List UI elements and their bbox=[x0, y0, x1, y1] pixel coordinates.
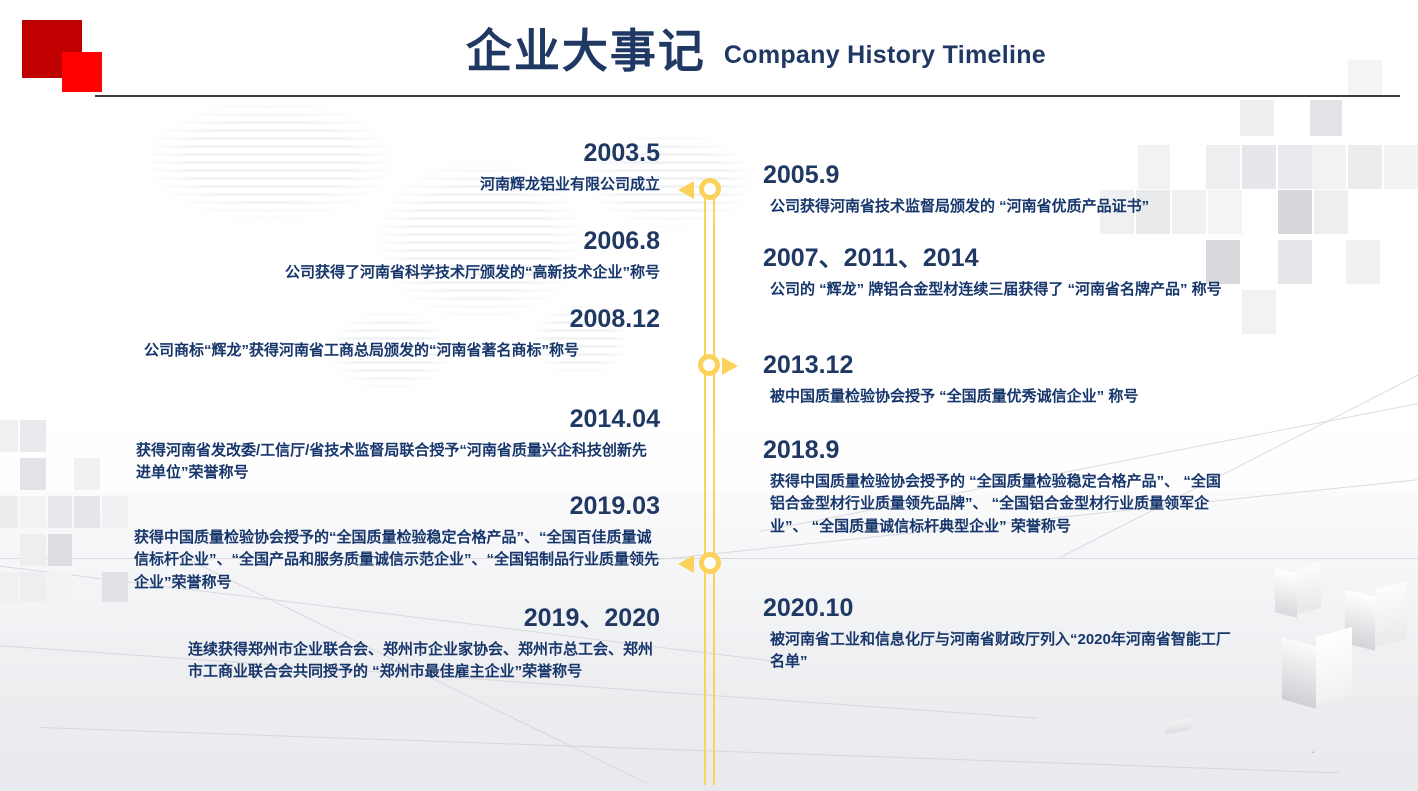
mosaic-square bbox=[0, 420, 18, 452]
entry-text: 获得河南省发改委/工信厅/省技术监督局联合授予“河南省质量兴企科技创新先进单位”… bbox=[130, 440, 660, 485]
footer-mark: · bbox=[1311, 744, 1315, 759]
arrow-left-icon bbox=[678, 555, 694, 573]
mosaic-square bbox=[102, 496, 128, 528]
mosaic-square bbox=[20, 496, 46, 528]
mosaic-square bbox=[1240, 100, 1274, 136]
entry-text: 公司的 “辉龙” 牌铝合金型材连续三届获得了 “河南省名牌产品” 称号 bbox=[763, 279, 1233, 302]
mosaic-square bbox=[1278, 190, 1312, 234]
ring-marker-icon bbox=[699, 552, 721, 574]
timeline-marker[interactable] bbox=[698, 353, 758, 379]
mosaic-square bbox=[20, 572, 46, 602]
timeline-entry-right: 2018.9 获得中国质量检验协会授予的 “全国质量检验稳定合格产品”、 “全国… bbox=[763, 437, 1233, 538]
entry-date: 2005.9 bbox=[763, 162, 1263, 190]
mosaic-square bbox=[74, 458, 100, 490]
mosaic-square bbox=[20, 458, 46, 490]
entry-text: 被河南省工业和信息化厅与河南省财政厅列入“2020年河南省智能工厂 名单” bbox=[763, 629, 1243, 674]
mosaic-square bbox=[48, 572, 72, 602]
floating-cube bbox=[1165, 720, 1191, 734]
title-block: 企业大事记 Company History Timeline bbox=[0, 28, 1400, 74]
floating-cube bbox=[1282, 632, 1352, 712]
timeline-entry-right: 2013.12 被中国质量检验协会授予 “全国质量优秀诚信企业” 称号 bbox=[763, 352, 1263, 408]
timeline-line-left bbox=[704, 190, 706, 785]
arrow-left-icon bbox=[678, 181, 694, 199]
entry-date: 2003.5 bbox=[130, 140, 660, 168]
timeline-marker[interactable] bbox=[676, 177, 736, 203]
mosaic-square bbox=[1314, 190, 1348, 234]
mosaic-square bbox=[1346, 240, 1380, 284]
entry-text: 河南辉龙铝业有限公司成立 bbox=[130, 174, 660, 197]
mosaic-square bbox=[1278, 240, 1312, 284]
entry-date: 2018.9 bbox=[763, 437, 1233, 465]
entry-date: 2013.12 bbox=[763, 352, 1263, 380]
page-subtitle: Company History Timeline bbox=[724, 41, 1046, 70]
timeline-entry-right: 2005.9 公司获得河南省技术监督局颁发的 “河南省优质产品证书” bbox=[763, 162, 1263, 218]
mosaic-square bbox=[74, 496, 100, 528]
timeline-entry-left: 2003.5 河南辉龙铝业有限公司成立 bbox=[130, 140, 660, 196]
arrow-right-icon bbox=[722, 357, 738, 375]
mosaic-square bbox=[1242, 290, 1276, 334]
header-divider bbox=[95, 95, 1400, 97]
entry-date: 2019、2020 bbox=[130, 605, 660, 633]
mosaic-square bbox=[1278, 145, 1312, 189]
entry-date: 2008.12 bbox=[130, 306, 660, 334]
floating-cube bbox=[1345, 585, 1407, 649]
mosaic-square bbox=[102, 572, 128, 602]
ring-marker-icon bbox=[699, 178, 721, 200]
entry-text: 连续获得郑州市企业联合会、郑州市企业家协会、郑州市总工会、郑州市工商业联合会共同… bbox=[130, 639, 660, 684]
mosaic-square bbox=[0, 496, 18, 528]
entry-date: 2020.10 bbox=[763, 595, 1243, 623]
mosaic-square bbox=[48, 496, 72, 528]
timeline-entry-left: 2019.03 获得中国质量检验协会授予的“全国质量检验稳定合格产品”、“全国百… bbox=[130, 493, 660, 594]
mosaic-square bbox=[20, 420, 46, 452]
slide-canvas: 企业大事记 Company History Timeline 2003.5 河南… bbox=[0, 0, 1418, 791]
entry-date: 2019.03 bbox=[130, 493, 660, 521]
entry-text: 公司获得河南省技术监督局颁发的 “河南省优质产品证书” bbox=[763, 196, 1263, 219]
page-title: 企业大事记 bbox=[466, 28, 706, 74]
entry-date: 2007、2011、2014 bbox=[763, 245, 1233, 273]
mosaic-square bbox=[0, 572, 18, 602]
timeline-entry-left: 2008.12 公司商标“辉龙”获得河南省工商总局颁发的“河南省著名商标”称号 bbox=[130, 306, 660, 362]
ring-marker-icon bbox=[698, 354, 720, 376]
mosaic-square bbox=[1384, 145, 1418, 189]
timeline-entry-right: 2020.10 被河南省工业和信息化厅与河南省财政厅列入“2020年河南省智能工… bbox=[763, 595, 1243, 674]
entry-text: 被中国质量检验协会授予 “全国质量优秀诚信企业” 称号 bbox=[763, 386, 1263, 409]
entry-text: 公司获得了河南省科学技术厅颁发的“高新技术企业”称号 bbox=[130, 262, 660, 285]
timeline-line-right bbox=[713, 190, 715, 785]
mosaic-square bbox=[1312, 145, 1346, 189]
timeline-entry-left: 2014.04 获得河南省发改委/工信厅/省技术监督局联合授予“河南省质量兴企科… bbox=[130, 406, 660, 485]
mosaic-square bbox=[48, 534, 72, 566]
entry-text: 获得中国质量检验协会授予的 “全国质量检验稳定合格产品”、 “全国铝合金型材行业… bbox=[763, 471, 1233, 539]
mosaic-square bbox=[20, 534, 46, 566]
entry-date: 2014.04 bbox=[130, 406, 660, 434]
timeline-entry-right: 2007、2011、2014 公司的 “辉龙” 牌铝合金型材连续三届获得了 “河… bbox=[763, 245, 1233, 301]
mosaic-square bbox=[1348, 145, 1382, 189]
timeline-marker[interactable] bbox=[676, 551, 736, 577]
entry-text: 获得中国质量检验协会授予的“全国质量检验稳定合格产品”、“全国百佳质量诚信标杆企… bbox=[130, 527, 660, 595]
timeline-entry-left: 2019、2020 连续获得郑州市企业联合会、郑州市企业家协会、郑州市总工会、郑… bbox=[130, 605, 660, 684]
timeline-entry-left: 2006.8 公司获得了河南省科学技术厅颁发的“高新技术企业”称号 bbox=[130, 228, 660, 284]
mosaic-square bbox=[1310, 100, 1342, 136]
floating-cube bbox=[1275, 565, 1321, 617]
entry-text: 公司商标“辉龙”获得河南省工商总局颁发的“河南省著名商标”称号 bbox=[130, 340, 660, 363]
entry-date: 2006.8 bbox=[130, 228, 660, 256]
